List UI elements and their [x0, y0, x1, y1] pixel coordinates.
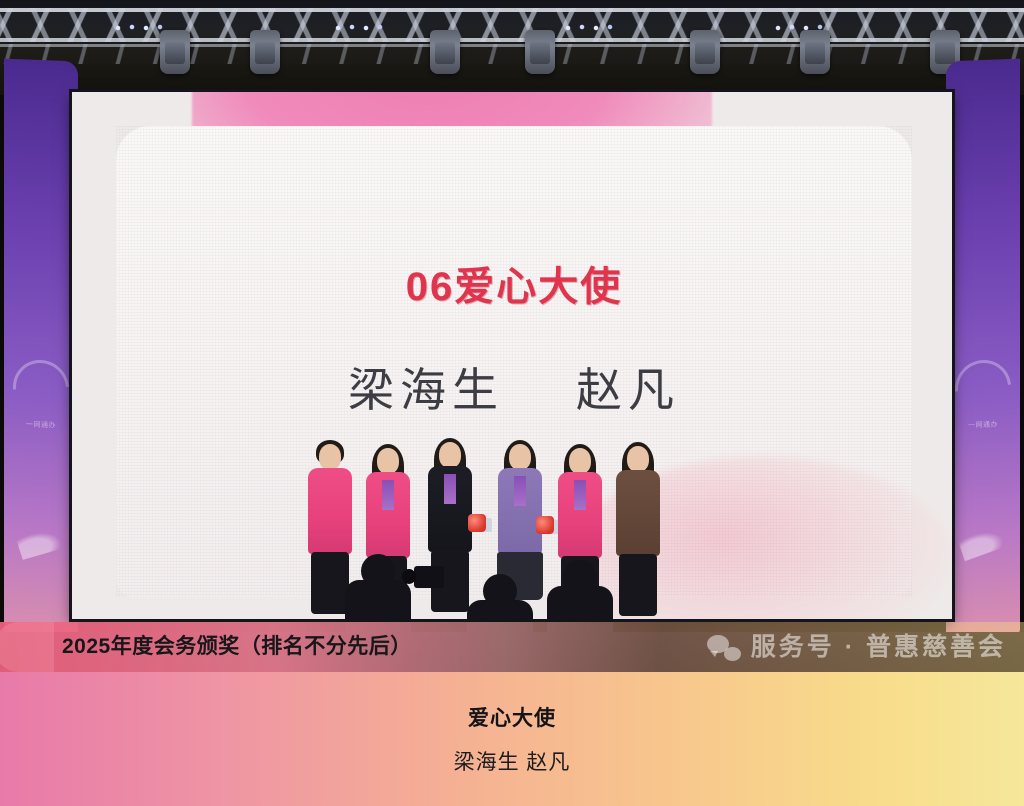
lanyard-icon: [574, 480, 586, 510]
caption-text: 2025年度会务颁奖（排名不分先后）: [62, 622, 412, 672]
award-recipient-names: 梁海生 赵凡: [0, 746, 1024, 776]
truss-light-dots-icon: [560, 22, 618, 34]
ceiling-area: [0, 0, 1024, 95]
swoosh-icon: [957, 523, 1008, 561]
head-icon: [627, 446, 649, 472]
watermark: 服务号 · 普惠慈善会: [707, 622, 1006, 672]
award-info-panel: 爱心大使 梁海生 赵凡: [0, 672, 1024, 806]
swirl-logo-icon: [946, 349, 1020, 428]
led-name-1: 梁海生: [348, 363, 504, 417]
legs-icon: [311, 552, 349, 614]
swoosh-icon: [15, 524, 66, 560]
head-icon: [377, 448, 399, 474]
lighting-truss-secondary-icon: [0, 44, 1024, 64]
trophy-icon: [468, 514, 486, 532]
stage-side-panel-right: 一网通办: [946, 59, 1020, 637]
wechat-icon: [707, 633, 741, 661]
watermark-text: 服务号 · 普惠慈善会: [751, 622, 1006, 672]
led-award-names: 梁海生赵凡: [116, 354, 912, 420]
photo-caption-bar: 2025年度会务颁奖（排名不分先后） 服务号 · 普惠慈善会: [0, 622, 1024, 672]
side-panel-label: 一网通办: [10, 419, 72, 431]
stage-lamp-icon: [690, 30, 720, 74]
truss-light-dots-icon: [110, 22, 168, 34]
event-photo: 一网通办 一网通办 06爱心大使 梁海生赵凡: [0, 0, 1024, 672]
stage-lamp-icon: [250, 30, 280, 74]
lanyard-icon: [444, 474, 456, 504]
lanyard-icon: [382, 480, 394, 510]
head-icon: [569, 448, 591, 474]
swirl-logo-icon: [4, 348, 78, 427]
side-panel-label: 一网通办: [952, 419, 1014, 431]
award-category-title: 爱心大使: [0, 702, 1024, 732]
brown-coat-icon: [616, 470, 660, 556]
page-root: 一网通办 一网通办 06爱心大使 梁海生赵凡: [0, 0, 1024, 806]
head-icon: [439, 442, 461, 468]
stage-lamp-icon: [800, 30, 830, 74]
head-icon: [509, 444, 531, 470]
stage-lamp-icon: [525, 30, 555, 74]
camera-icon: [414, 566, 444, 588]
head-icon: [319, 444, 341, 470]
stage-lamp-icon: [430, 30, 460, 74]
led-name-2: 赵凡: [576, 363, 680, 417]
stage-lamp-icon: [160, 30, 190, 74]
legs-icon: [619, 554, 657, 616]
pink-vest-icon: [308, 468, 352, 554]
lanyard-icon: [514, 476, 526, 506]
led-award-title: 06爱心大使: [116, 254, 912, 312]
stage-side-panel-left: 一网通办: [4, 59, 78, 637]
trophy-icon: [536, 516, 554, 534]
truss-light-dots-icon: [330, 22, 388, 34]
